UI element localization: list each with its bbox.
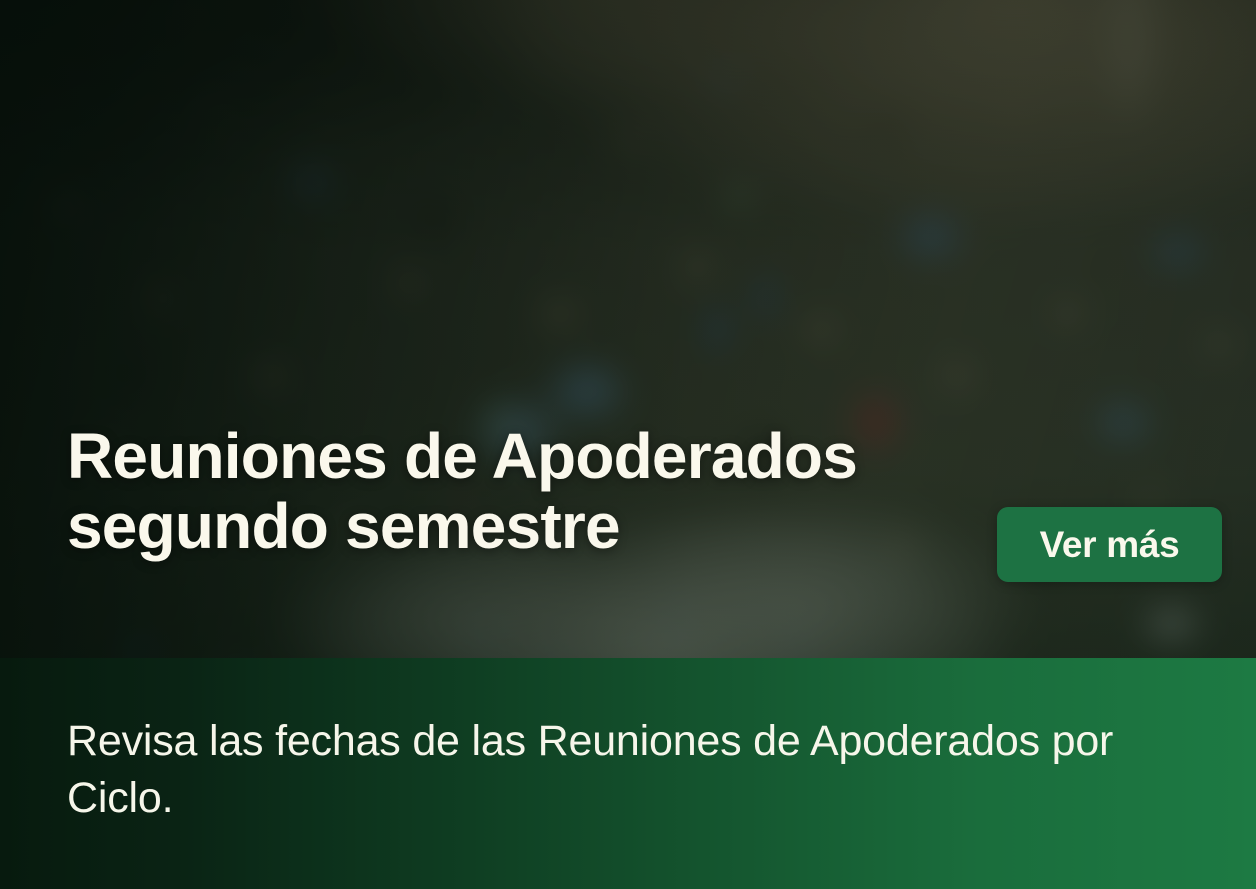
page-title: Reuniones de Apoderados segundo semestre — [67, 421, 967, 562]
hero-banner: Reuniones de Apoderados segundo semestre… — [0, 0, 1256, 658]
description-text: Revisa las fechas de las Reuniones de Ap… — [67, 713, 1227, 827]
hero-content: Reuniones de Apoderados segundo semestre… — [0, 0, 1256, 658]
news-promo-card: Reuniones de Apoderados segundo semestre… — [0, 0, 1256, 889]
ver-mas-button[interactable]: Ver más — [997, 507, 1222, 582]
